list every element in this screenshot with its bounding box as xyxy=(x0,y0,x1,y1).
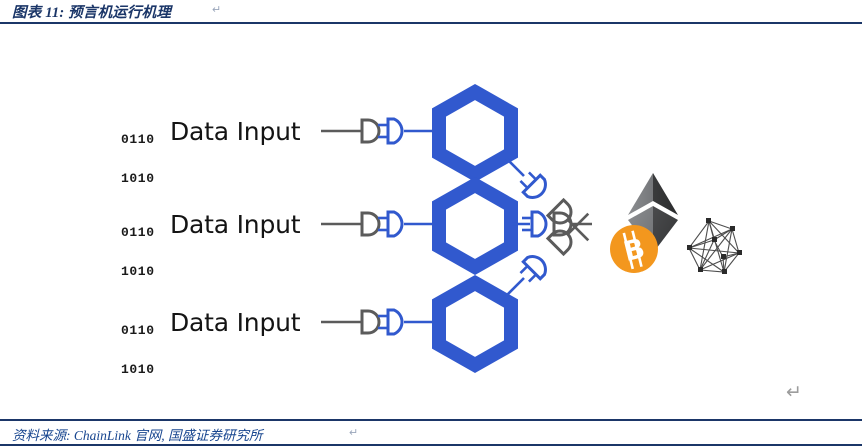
binary-row-top-1: 0110 xyxy=(121,133,155,146)
network-graph-logo xyxy=(687,218,742,274)
binary-row-bottom-2: 1010 xyxy=(121,265,155,278)
bitcoin-logo: B xyxy=(610,225,658,273)
source-divider-bottom xyxy=(0,444,862,446)
binary-data-icon-2: 0110 1010 xyxy=(121,200,155,304)
source-divider-top xyxy=(0,419,862,421)
chainlink-hexagon-2 xyxy=(439,185,511,267)
title-divider xyxy=(0,22,862,24)
data-input-label-2: Data Input xyxy=(170,210,300,239)
plug-icon-2 xyxy=(388,212,402,236)
paragraph-mark-icon: ↵ xyxy=(212,3,221,16)
binary-row-top-2: 0110 xyxy=(121,226,155,239)
return-arrow-icon: ↵ xyxy=(786,381,802,403)
oracle-row-2 xyxy=(321,185,592,267)
output-wire-1 xyxy=(506,158,524,176)
binary-row-bottom-1: 1010 xyxy=(121,172,155,185)
source-note: 资料来源: ChainLink 官网, 国盛证券研究所 xyxy=(12,424,263,444)
paragraph-mark-footer-icon: ↵ xyxy=(349,426,358,439)
data-input-label-1: Data Input xyxy=(170,117,300,146)
output-wire-3 xyxy=(506,278,524,296)
socket-icon-2 xyxy=(362,213,379,235)
binary-data-icon-1: 0110 1010 xyxy=(121,107,155,211)
page-title: 图表 11: 预言机运行机理 xyxy=(12,1,171,22)
chainlink-hexagon-1 xyxy=(439,92,511,174)
chainlink-hexagon-3 xyxy=(439,283,511,365)
plug-icon-1 xyxy=(388,119,402,143)
socket-icon-3 xyxy=(362,311,379,333)
plug-icon-3 xyxy=(388,310,402,334)
binary-data-icon-3: 0110 1010 xyxy=(121,298,155,402)
binary-row-bottom-3: 1010 xyxy=(121,363,155,376)
oracle-flow-diagram: B xyxy=(0,25,862,417)
socket-icon-1 xyxy=(362,120,379,142)
data-input-label-3: Data Input xyxy=(170,308,300,337)
binary-row-top-3: 0110 xyxy=(121,324,155,337)
